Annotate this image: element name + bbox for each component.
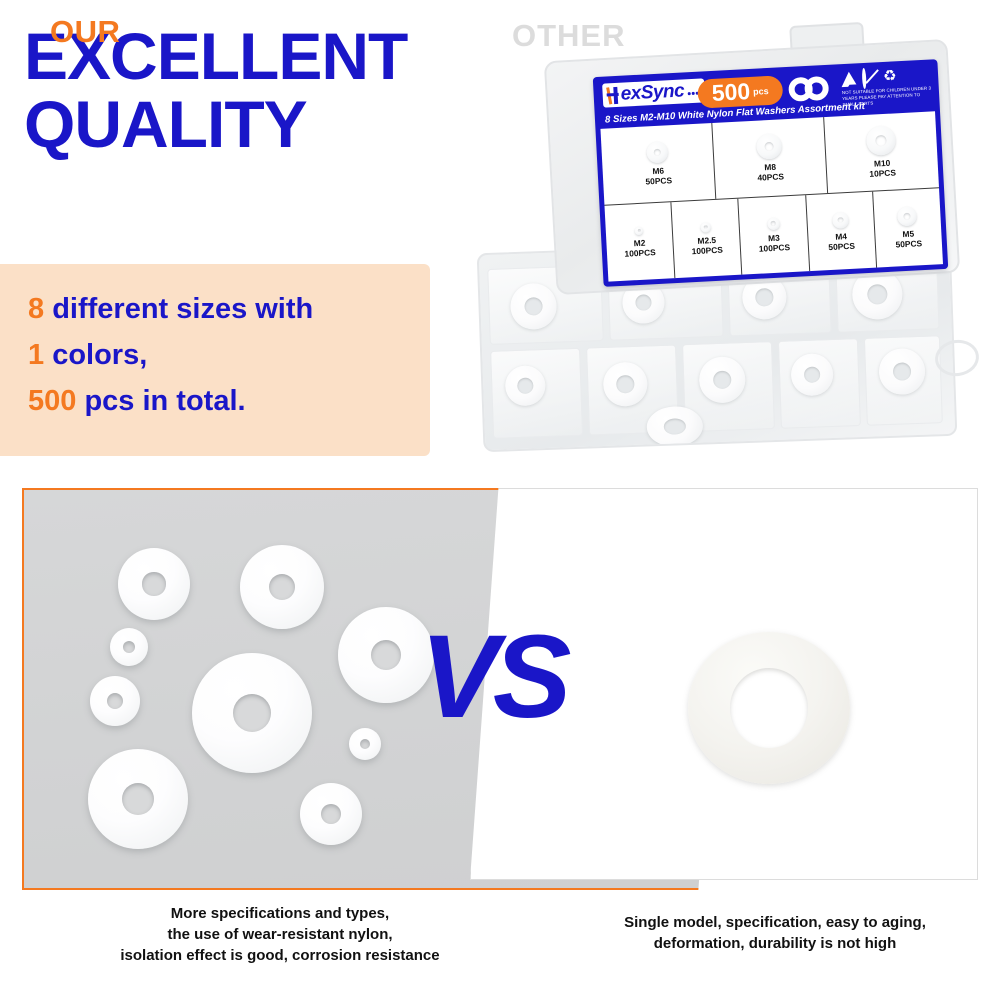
size-label: M3 (768, 232, 780, 243)
washer-sample (90, 676, 140, 726)
washer-sample (110, 628, 148, 666)
size-count: 100PCS (691, 244, 723, 256)
size-count: 40PCS (757, 171, 784, 182)
size-label: M4 (835, 231, 847, 242)
hex-tool-icon (606, 86, 620, 104)
feature-line-1: 8 different sizes with (28, 286, 430, 332)
washer-icon (646, 141, 668, 163)
product-label: exSync 500 pcs ♻ NOT SUITABLE F (593, 59, 949, 287)
washer-sample (349, 728, 381, 760)
washer-icon (866, 125, 896, 155)
washer-icon (767, 217, 780, 230)
washer-pair-icon (788, 73, 837, 103)
washer-icon (832, 212, 849, 229)
size-label: M2 (633, 237, 645, 248)
size-count: 100PCS (624, 247, 656, 259)
feature-text-3: pcs in total. (76, 385, 245, 417)
warning-icon-row: ♻ (841, 66, 934, 88)
washer-sample (300, 783, 362, 845)
caption-line: the use of wear-resistant nylon, (10, 924, 550, 945)
size-cell-m8: M8 40PCS (712, 117, 828, 199)
caption-line: deformation, durability is not high (560, 933, 990, 954)
caption-line: More specifications and types, (10, 903, 550, 924)
recycling-icon: ♻ (883, 68, 901, 86)
other-caption: Single model, specification, easy to agi… (560, 912, 990, 954)
other-washer-sample (688, 632, 850, 784)
feature-text-1: different sizes with (44, 293, 313, 325)
feature-text-2: colors, (44, 339, 147, 371)
washer-icon (897, 206, 917, 226)
washer-sample (118, 548, 190, 620)
other-label: OTHER (512, 18, 626, 54)
washer-sample (240, 545, 324, 629)
size-chart-row-bottom: M2 100PCS M2.5 100PCS M3 100PCS (604, 188, 943, 281)
washer-icon (701, 222, 712, 233)
size-label: M8 (764, 162, 776, 173)
badge-unit: pcs (753, 85, 769, 96)
size-label: M5 (902, 229, 914, 240)
badge-number: 500 (711, 80, 751, 105)
feature-number-1: 8 (28, 293, 44, 325)
size-cell-m3: M3 100PCS (739, 195, 810, 274)
headline-line-2: QUALITY (24, 90, 564, 158)
size-label: M6 (652, 166, 664, 177)
logo-dots-icon (686, 82, 699, 101)
size-cell-m4: M4 50PCS (806, 192, 877, 271)
size-count: 50PCS (828, 240, 855, 251)
infographic-canvas: EXCELLENT QUALITY 8 different sizes with… (0, 0, 1000, 1000)
quantity-badge: 500 pcs (697, 75, 783, 108)
feature-number-2: 1 (28, 339, 44, 371)
size-cell-m10: M10 10PCS (824, 111, 939, 193)
size-cell-m6: M6 50PCS (600, 123, 716, 205)
feature-callout-box: 8 different sizes with 1 colors, 500 pcs… (0, 264, 430, 456)
feature-number-3: 500 (28, 385, 76, 417)
feature-line-3: 500 pcs in total. (28, 378, 430, 424)
washer-sample (88, 749, 188, 849)
product-box-photo: exSync 500 pcs ♻ NOT SUITABLE F (490, 40, 1000, 480)
brand-logo: exSync (602, 78, 705, 107)
size-cell-m2: M2 100PCS (604, 202, 675, 281)
size-cell-m25: M2.5 100PCS (672, 199, 743, 278)
washer-sample (192, 653, 312, 773)
our-label: OUR (50, 14, 120, 50)
washer-icon (635, 226, 643, 234)
our-caption: More specifications and types,the use of… (10, 903, 550, 966)
washer-loose (646, 406, 703, 448)
size-count: 100PCS (759, 242, 791, 254)
vs-badge: VS (420, 618, 565, 736)
no-children-under-3-icon (862, 69, 880, 87)
size-cell-m5: M5 50PCS (873, 188, 943, 267)
washer-icon (756, 133, 782, 159)
caption-line: isolation effect is good, corrosion resi… (10, 945, 550, 966)
size-count: 10PCS (869, 167, 896, 178)
size-chart-grid: M6 50PCS M8 40PCS M10 10PCS (600, 111, 943, 281)
caption-line: Single model, specification, easy to agi… (560, 912, 990, 933)
size-count: 50PCS (895, 238, 922, 249)
feature-line-2: 1 colors, (28, 332, 430, 378)
warning-triangle-icon (841, 70, 859, 88)
brand-name: exSync (620, 80, 685, 105)
size-count: 50PCS (645, 175, 672, 186)
